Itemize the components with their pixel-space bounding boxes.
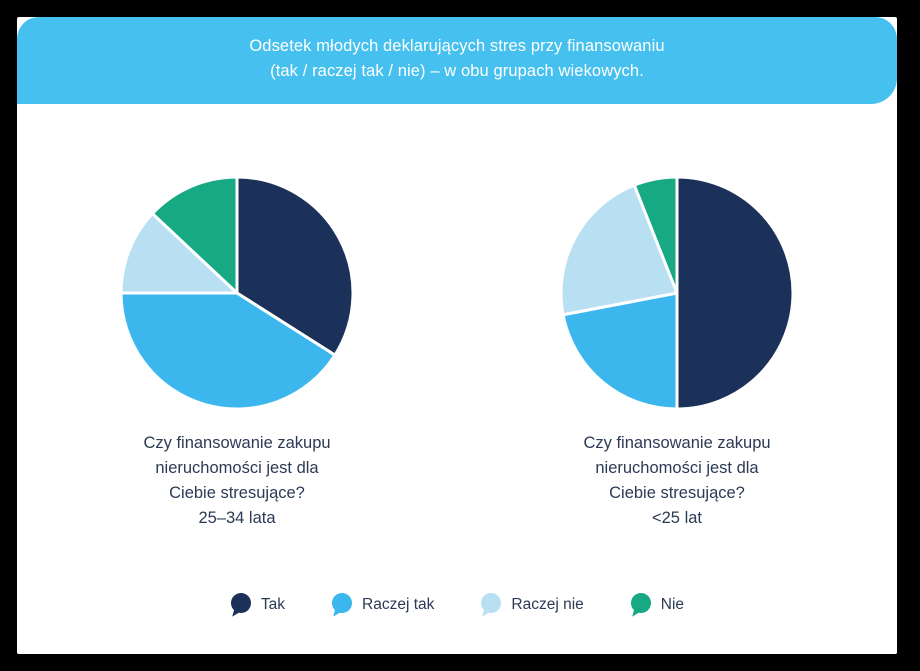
legend-item-raczej-nie[interactable]: Raczej nie: [480, 592, 583, 618]
chart-legend: Tak Raczej tak Raczej nie: [17, 592, 897, 618]
speech-bubble-icon: [230, 592, 252, 618]
legend-item-nie[interactable]: Nie: [630, 592, 684, 618]
pie-chart-left[interactable]: [119, 175, 355, 411]
legend-item-tak[interactable]: Tak: [230, 592, 285, 618]
pie-caption-left: Czy finansowanie zakupu nieruchomości je…: [143, 431, 330, 506]
legend-label: Nie: [661, 595, 684, 615]
pie-caption-right: Czy finansowanie zakupu nieruchomości je…: [583, 431, 770, 506]
chart-title: Odsetek młodych deklarujących stres przy…: [249, 34, 664, 88]
speech-bubble-icon: [480, 592, 502, 618]
speech-bubble-icon: [630, 592, 652, 618]
speech-bubble-icon: [331, 592, 353, 618]
pie-chart-block-right: Czy finansowanie zakupu nieruchomości je…: [457, 104, 897, 554]
pie-slice[interactable]: [677, 177, 793, 409]
pie-chart-right[interactable]: [559, 175, 795, 411]
legend-label: Raczej nie: [511, 595, 583, 615]
pie-chart-block-left: Czy finansowanie zakupu nieruchomości je…: [17, 104, 457, 554]
screenshot-root: Odsetek młodych deklarujących stres przy…: [0, 0, 920, 671]
pie-group-label-left: 25–34 lata: [198, 506, 275, 531]
chart-card: Odsetek młodych deklarujących stres przy…: [17, 17, 897, 654]
chart-header-banner: Odsetek młodych deklarujących stres przy…: [17, 17, 897, 104]
legend-label: Tak: [261, 595, 285, 615]
chart-body: Czy finansowanie zakupu nieruchomości je…: [17, 104, 897, 654]
pie-group-label-right: <25 lat: [652, 506, 702, 531]
pie-charts-row: Czy finansowanie zakupu nieruchomości je…: [17, 104, 897, 554]
legend-item-raczej-tak[interactable]: Raczej tak: [331, 592, 434, 618]
legend-label: Raczej tak: [362, 595, 434, 615]
